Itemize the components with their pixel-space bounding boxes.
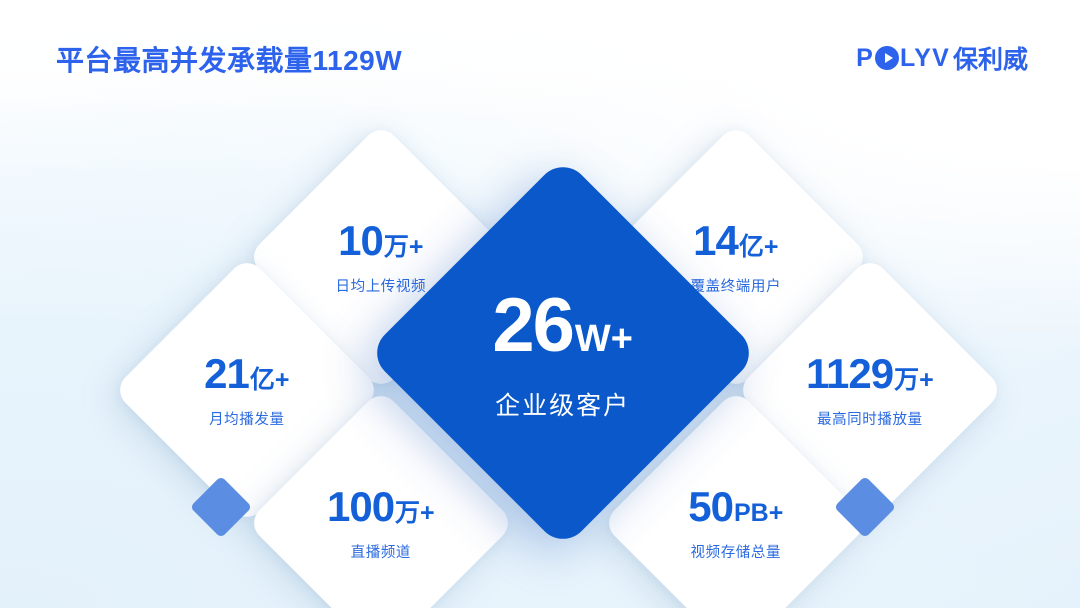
stat-value-live-channels: 100万+ [286, 486, 476, 528]
stat-unit: 万+ [894, 368, 934, 393]
stat-number: 50 [688, 486, 733, 528]
logo-wordmark: P LYV [856, 44, 950, 73]
stat-value-daily-upload: 10万+ [286, 220, 476, 262]
stat-value-enterprise-clients: 26W+ [433, 288, 693, 364]
stat-value-monthly-play: 21亿+ [152, 353, 342, 395]
logo-letters-lyv: LYV [900, 44, 950, 73]
stat-number: 26 [493, 288, 574, 364]
stat-label-peak-concurrent: 最高同时播放量 [775, 413, 965, 428]
stat-unit: 亿+ [250, 368, 290, 393]
stat-label-video-storage: 视频存储总量 [641, 546, 831, 561]
polyv-logo: P LYV 保利威 [856, 40, 1028, 76]
play-triangle-icon [875, 46, 899, 70]
stat-unit: 万+ [384, 235, 424, 260]
stat-unit: 万+ [395, 501, 435, 526]
logo-letter-p: P [856, 44, 874, 73]
stat-label-live-channels: 直播频道 [286, 546, 476, 561]
stat-number: 100 [327, 486, 394, 528]
stat-unit: W+ [575, 320, 633, 358]
page-header: 平台最高并发承载量1129W P LYV 保利威 [0, 0, 1080, 112]
stat-unit: PB+ [734, 501, 783, 526]
stat-value-peak-concurrent: 1129万+ [775, 353, 965, 395]
stat-label-monthly-play: 月均播发量 [152, 413, 342, 428]
stat-value-terminal-users: 14亿+ [641, 220, 831, 262]
stat-label-enterprise-clients: 企业级客户 [433, 394, 693, 419]
page-title: 平台最高并发承载量1129W [56, 39, 402, 79]
stat-number: 1129 [806, 353, 893, 395]
logo-chinese-name: 保利威 [953, 40, 1028, 76]
stat-number: 21 [204, 353, 249, 395]
stat-number: 14 [693, 220, 738, 262]
stat-unit: 亿+ [739, 235, 779, 260]
stat-number: 10 [338, 220, 383, 262]
stat-value-video-storage: 50PB+ [641, 486, 831, 528]
